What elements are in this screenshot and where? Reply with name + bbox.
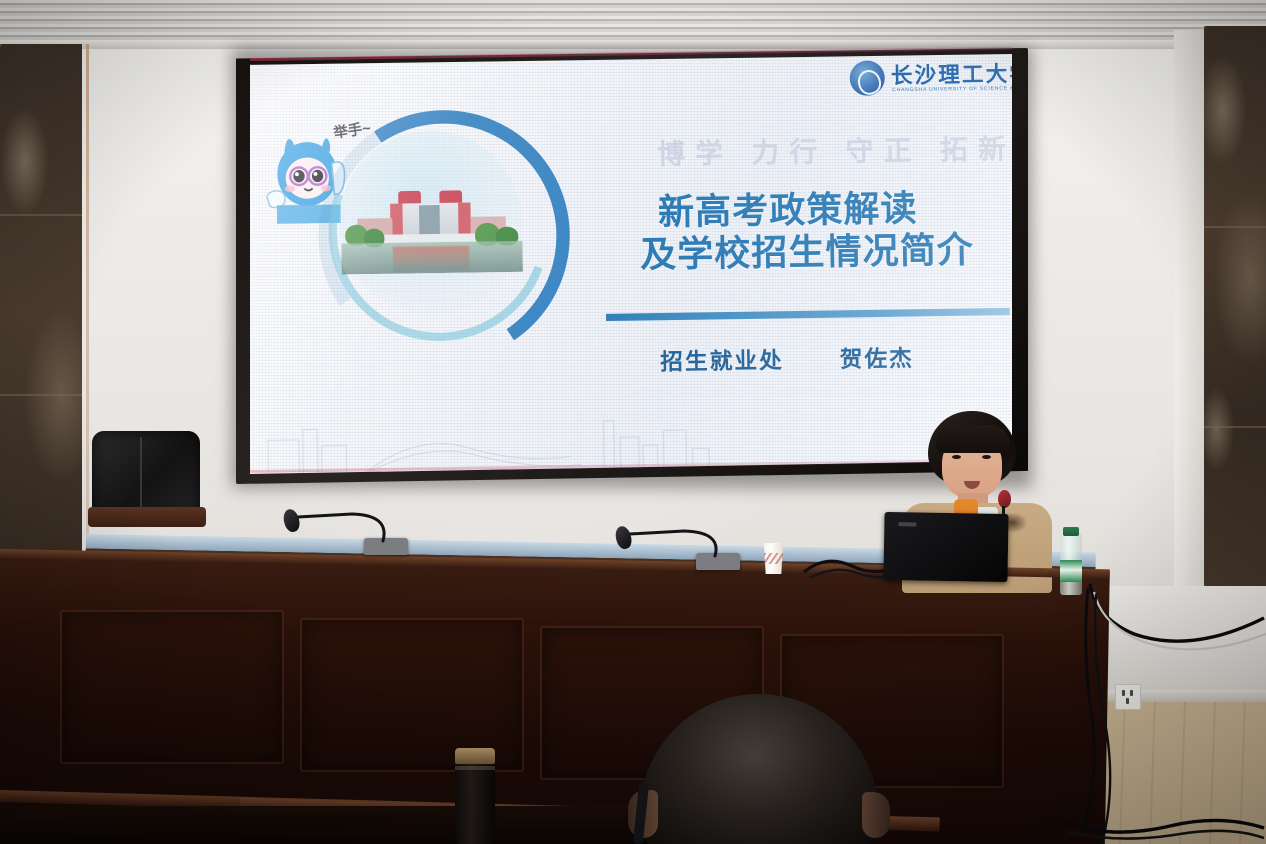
- circular-ring-graphic: [317, 109, 545, 337]
- logo-name-en: CHANGSHA UNIVERSITY OF SCIENCE & TECHNOL…: [892, 85, 1012, 93]
- thermos-cap: [455, 748, 495, 764]
- logo-emblem-icon: [849, 60, 885, 96]
- executive-chair[interactable]: [88, 431, 206, 541]
- wall-cables: [1062, 578, 1266, 844]
- presenter-laptop[interactable]: [883, 512, 1008, 582]
- slide-divider-bar: [606, 308, 1010, 321]
- campus-photo: [340, 181, 523, 274]
- slide-title-line-1: 新高考政策解读: [658, 186, 1009, 234]
- slide-title-line-2: 及学校招生情况简介: [640, 229, 1009, 277]
- gooseneck-mic-center[interactable]: [610, 522, 740, 568]
- presenter-department: 招生就业处: [660, 347, 784, 375]
- slide-byline: 招生就业处 贺佐杰: [660, 340, 914, 377]
- presenter-name: 贺佐杰: [840, 345, 915, 372]
- marble-column-right: [1204, 26, 1266, 586]
- foreground-shadow: [0, 806, 660, 844]
- water-bottle-cap: [1063, 527, 1079, 536]
- wall-strip-right: [1174, 30, 1206, 590]
- gooseneck-mic-left[interactable]: [278, 509, 408, 555]
- university-motto: 博学 力行 守正 拓新: [657, 127, 967, 172]
- audience-ear-right: [862, 792, 890, 838]
- slide-title-block: 新高考政策解读 及学校招生情况简介: [658, 186, 1009, 276]
- conference-room-scene: 长沙理工大学 CHANGSHA UNIVERSITY OF SCIENCE & …: [0, 0, 1266, 844]
- thermos-ring: [455, 766, 495, 770]
- university-logo: 长沙理工大学 CHANGSHA UNIVERSITY OF SCIENCE & …: [849, 56, 1012, 104]
- floor-cables: [1060, 812, 1266, 844]
- paper-cup-print: [764, 553, 783, 564]
